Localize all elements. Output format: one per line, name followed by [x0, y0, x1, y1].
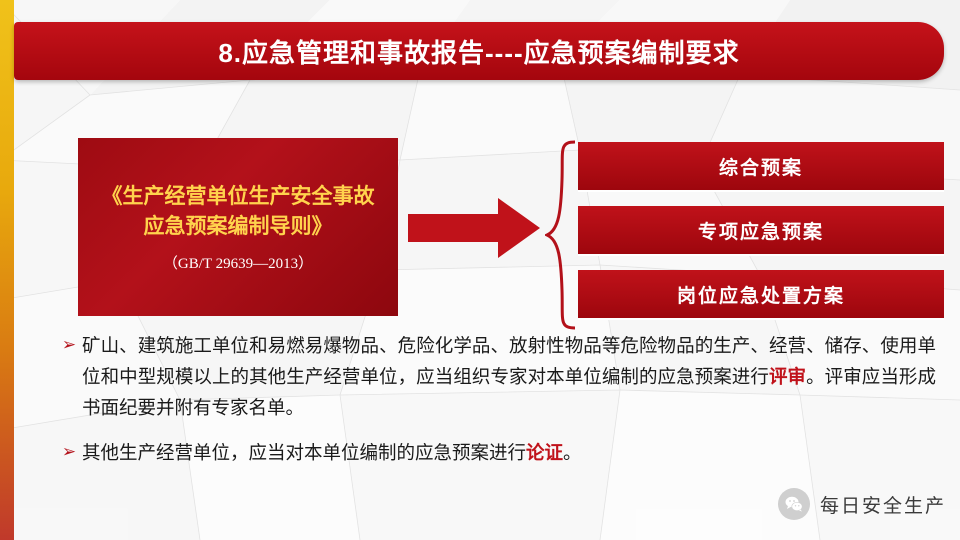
- branch-bar-2: 专项应急预案: [578, 206, 944, 256]
- slide-root: 8.应急管理和事故报告----应急预案编制要求 《生产经营单位生产安全事故应急预…: [0, 0, 960, 540]
- branch-bar-3: 岗位应急处置方案: [578, 270, 944, 320]
- slide-title-bar: 8.应急管理和事故报告----应急预案编制要求: [14, 22, 944, 80]
- bullet-text-part: 其他生产经营单位，应当对本单位编制的应急预案进行: [82, 442, 526, 463]
- footer-text: 每日安全生产: [820, 491, 946, 518]
- bullet-text-part: 。: [563, 442, 582, 463]
- bullet-list: ➢ 矿山、建筑施工单位和易燃易爆物品、危险化学品、放射性物品等危险物品的生产、经…: [56, 330, 936, 482]
- standard-reference-box: 《生产经营单位生产安全事故应急预案编制导则》 （GB/T 29639—2013）: [78, 138, 398, 316]
- bullet-highlight: 论证: [526, 442, 563, 463]
- footer-badge: 每日安全生产: [778, 482, 946, 526]
- left-accent-strip: [0, 0, 14, 540]
- bullet-text: 其他生产经营单位，应当对本单位编制的应急预案进行论证。: [82, 437, 936, 468]
- bullet-marker: ➢: [56, 330, 82, 360]
- bullet-marker: ➢: [56, 437, 82, 467]
- bullet-text: 矿山、建筑施工单位和易燃易爆物品、危险化学品、放射性物品等危险物品的生产、经营、…: [82, 330, 936, 423]
- slide-title: 8.应急管理和事故报告----应急预案编制要求: [14, 22, 944, 80]
- standard-code: （GB/T 29639—2013）: [163, 252, 313, 273]
- bullet-highlight: 评审: [769, 366, 806, 387]
- bullet-item: ➢ 矿山、建筑施工单位和易燃易爆物品、危险化学品、放射性物品等危险物品的生产、经…: [56, 330, 936, 423]
- right-arrow-icon: [408, 196, 540, 260]
- brace-icon: [545, 140, 579, 330]
- branch-bar-1: 综合预案: [578, 142, 944, 192]
- bullet-item: ➢ 其他生产经营单位，应当对本单位编制的应急预案进行论证。: [56, 437, 936, 468]
- wechat-icon: [778, 488, 810, 520]
- standard-title: 《生产经营单位生产安全事故应急预案编制导则》: [93, 182, 383, 242]
